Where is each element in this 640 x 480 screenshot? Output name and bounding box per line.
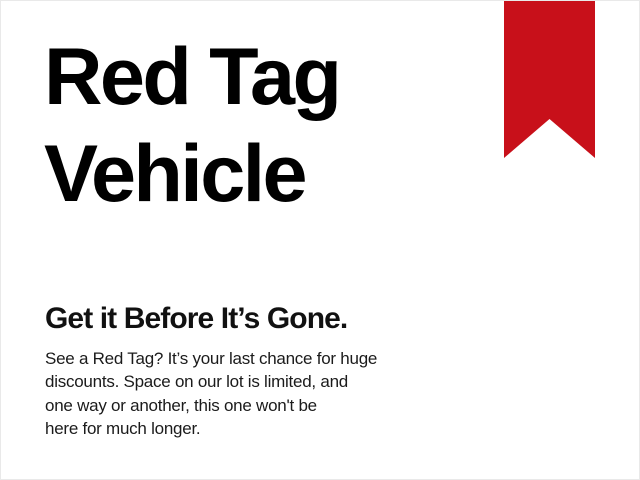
- headline-line-1: Red Tag: [44, 29, 484, 126]
- page-title: Red Tag Vehicle: [44, 29, 484, 223]
- body-copy: See a Red Tag? It’s your last chance for…: [45, 347, 405, 441]
- subheading: Get it Before It’s Gone.: [45, 302, 347, 336]
- red-tag-vehicle-promo-banner: Red Tag Vehicle Get it Before It’s Gone.…: [0, 0, 640, 480]
- body-copy-line-3: one way or another, this one won't be: [45, 394, 405, 417]
- body-copy-line-1: See a Red Tag? It’s your last chance for…: [45, 347, 405, 370]
- headline-line-2: Vehicle: [44, 126, 484, 223]
- ribbon-bookmark-icon: [504, 0, 595, 158]
- body-copy-line-4: here for much longer.: [45, 417, 405, 440]
- body-copy-line-2: discounts. Space on our lot is limited, …: [45, 370, 405, 393]
